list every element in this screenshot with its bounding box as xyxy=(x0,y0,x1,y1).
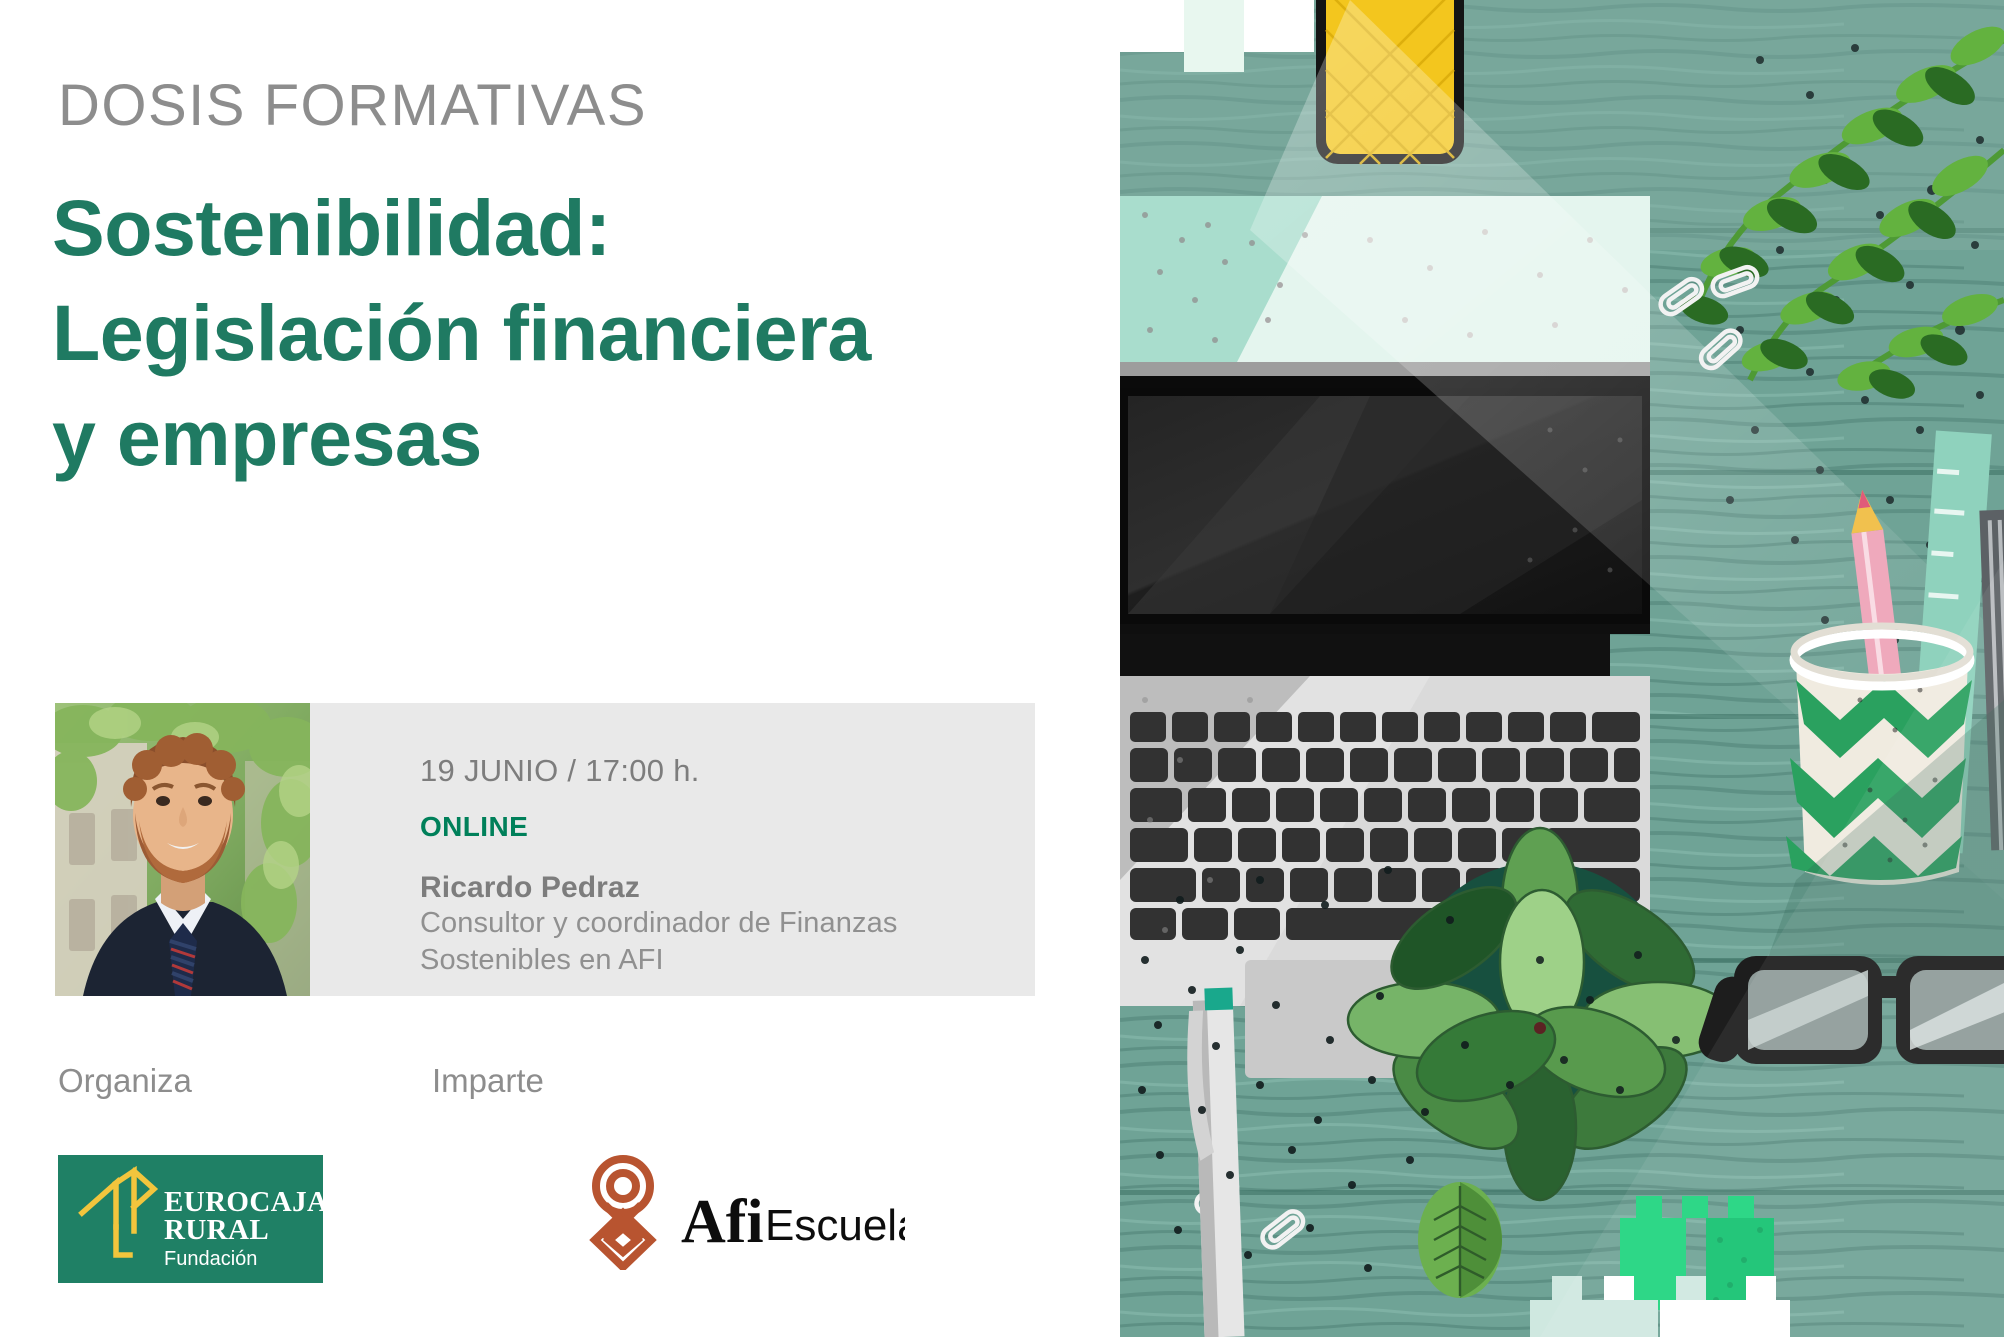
title-line-3: y empresas xyxy=(52,385,1072,490)
afi-knot-icon xyxy=(595,1159,651,1267)
title-line-2: Legislación financiera xyxy=(52,280,1072,385)
content-pane: DOSIS FORMATIVAS Sostenibilidad: Legisla… xyxy=(0,0,1120,1337)
speaker-role-line-1: Consultor y coordinador de Finanzas xyxy=(420,905,1035,942)
speaker-role-line-2: Sostenibles en AFI xyxy=(420,942,1035,979)
eurocaja-rural-logo[interactable]: EUROCAJA RURAL Fundación xyxy=(58,1155,323,1283)
leaf xyxy=(1418,1182,1502,1298)
kicker-label: DOSIS FORMATIVAS xyxy=(58,72,647,139)
page-title: Sostenibilidad: Legislación financiera y… xyxy=(52,175,1072,490)
speaker-name: Ricardo Pedraz xyxy=(420,871,1035,905)
afi-escuela-logo[interactable]: Afi Escuela xyxy=(575,1150,905,1270)
poster-canvas: DOSIS FORMATIVAS Sostenibilidad: Legisla… xyxy=(0,0,2004,1337)
desk-illustration xyxy=(1120,0,2004,1337)
event-datetime: 19 JUNIO / 17:00 h. xyxy=(420,753,1035,789)
event-mode-badge: ONLINE xyxy=(420,811,1035,843)
escuela-wordmark: Escuela xyxy=(765,1201,905,1250)
paper-sheet xyxy=(1120,0,1184,52)
speaker-portrait xyxy=(55,703,310,996)
organiza-label: Organiza xyxy=(58,1062,192,1100)
svg-text:RURAL: RURAL xyxy=(164,1214,269,1246)
svg-text:Fundación: Fundación xyxy=(164,1248,257,1270)
event-details-panel: 19 JUNIO / 17:00 h. ONLINE Ricardo Pedra… xyxy=(310,703,1035,996)
title-line-1: Sostenibilidad: xyxy=(52,175,1072,280)
afi-wordmark: Afi xyxy=(681,1188,764,1256)
event-info-block: 19 JUNIO / 17:00 h. ONLINE Ricardo Pedra… xyxy=(55,703,1035,996)
imparte-label: Imparte xyxy=(432,1062,544,1100)
